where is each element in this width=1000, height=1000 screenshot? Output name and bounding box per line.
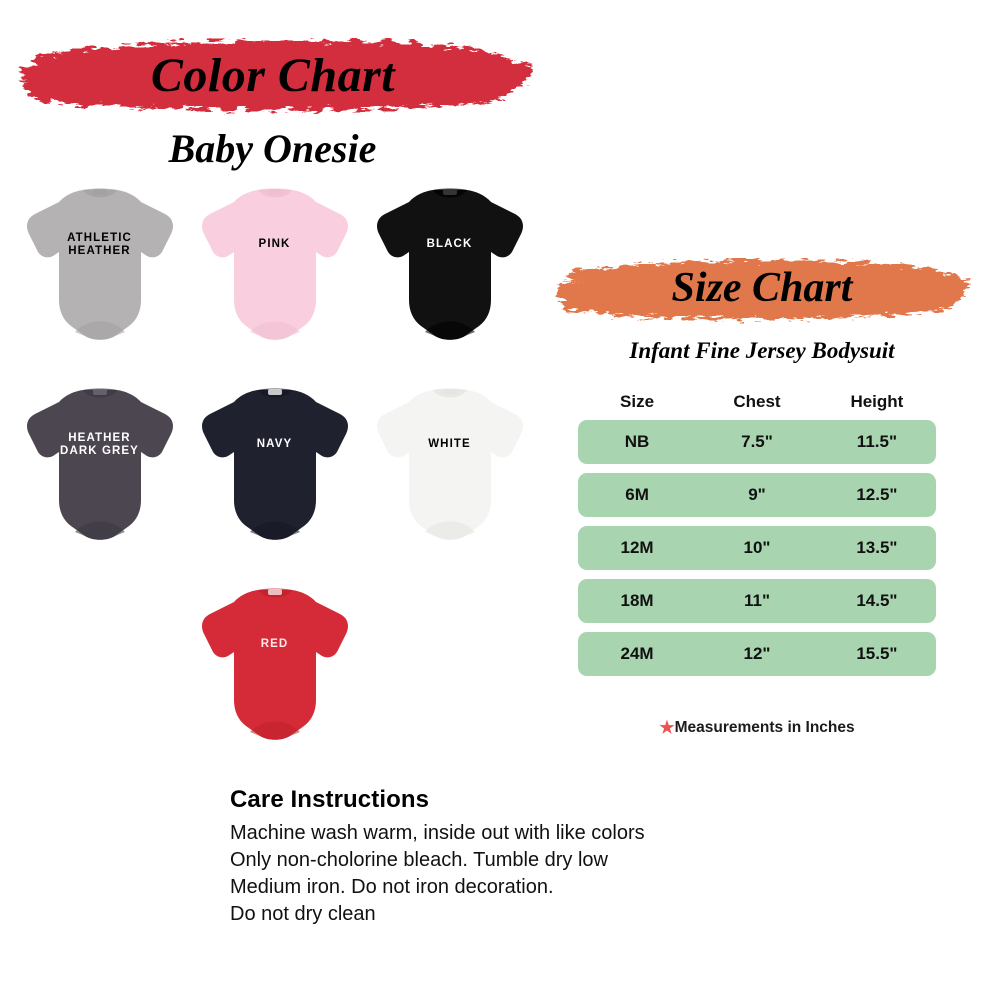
onesie-row: RED bbox=[12, 580, 537, 780]
onesie-icon bbox=[190, 180, 360, 355]
table-row: 6M 9" 12.5" bbox=[578, 473, 936, 517]
table-row: 18M 11" 14.5" bbox=[578, 579, 936, 623]
onesie-swatch-pink[interactable]: PINK bbox=[187, 180, 362, 380]
cell-height: 13.5" bbox=[818, 538, 936, 558]
cell-chest: 12" bbox=[696, 644, 818, 664]
onesie-swatch-red[interactable]: RED bbox=[187, 580, 362, 780]
color-chart-banner: Color Chart bbox=[8, 38, 538, 118]
onesie-row: ATHLETIC HEATHER PINK BLACK bbox=[12, 180, 537, 380]
measurements-note-text: Measurements in Inches bbox=[675, 719, 855, 736]
cell-height: 12.5" bbox=[818, 485, 936, 505]
onesie-row: HEATHER DARK GREY NAVY WHITE bbox=[12, 380, 537, 580]
cell-chest: 7.5" bbox=[696, 432, 818, 452]
onesie-swatch-athletic-heather[interactable]: ATHLETIC HEATHER bbox=[12, 180, 187, 380]
onesie-icon bbox=[190, 380, 360, 555]
care-instructions-block: Care Instructions Machine wash warm, ins… bbox=[230, 786, 870, 928]
measurements-note: ★Measurements in Inches bbox=[578, 718, 936, 738]
table-row: NB 7.5" 11.5" bbox=[578, 420, 936, 464]
care-instruction-line: Do not dry clean bbox=[230, 901, 870, 928]
star-icon: ★ bbox=[659, 718, 674, 737]
cell-size: 18M bbox=[578, 591, 696, 611]
size-chart-title: Size Chart bbox=[548, 264, 976, 312]
onesie-icon bbox=[365, 380, 535, 555]
onesie-icon bbox=[365, 180, 535, 355]
cell-height: 11.5" bbox=[818, 432, 936, 452]
size-chart-table: Size Chest Height NB 7.5" 11.5" 6M 9" 12… bbox=[578, 392, 936, 685]
cell-chest: 11" bbox=[696, 591, 818, 611]
onesie-icon bbox=[190, 580, 360, 755]
onesie-swatch-heather-dark-grey[interactable]: HEATHER DARK GREY bbox=[12, 380, 187, 580]
cell-size: 6M bbox=[578, 485, 696, 505]
table-row: 12M 10" 13.5" bbox=[578, 526, 936, 570]
baby-onesie-subtitle: Baby Onesie bbox=[0, 125, 545, 172]
size-chart-banner: Size Chart bbox=[548, 258, 976, 324]
care-instruction-line: Medium iron. Do not iron decoration. bbox=[230, 874, 870, 901]
column-header-size: Size bbox=[578, 392, 696, 412]
cell-height: 14.5" bbox=[818, 591, 936, 611]
column-header-chest: Chest bbox=[696, 392, 818, 412]
cell-chest: 9" bbox=[696, 485, 818, 505]
onesie-swatch-black[interactable]: BLACK bbox=[362, 180, 537, 380]
onesie-swatch-navy[interactable]: NAVY bbox=[187, 380, 362, 580]
cell-size: NB bbox=[578, 432, 696, 452]
cell-height: 15.5" bbox=[818, 644, 936, 664]
table-row: 24M 12" 15.5" bbox=[578, 632, 936, 676]
column-header-height: Height bbox=[818, 392, 936, 412]
color-chart-title: Color Chart bbox=[8, 48, 538, 103]
care-instruction-line: Only non-cholorine bleach. Tumble dry lo… bbox=[230, 847, 870, 874]
table-header-row: Size Chest Height bbox=[578, 392, 936, 420]
bodysuit-subtitle: Infant Fine Jersey Bodysuit bbox=[548, 338, 976, 364]
care-instructions-title: Care Instructions bbox=[230, 786, 870, 814]
cell-chest: 10" bbox=[696, 538, 818, 558]
cell-size: 12M bbox=[578, 538, 696, 558]
care-instruction-line: Machine wash warm, inside out with like … bbox=[230, 820, 870, 847]
onesie-icon bbox=[15, 180, 185, 355]
onesie-icon bbox=[15, 380, 185, 555]
onesie-swatch-white[interactable]: WHITE bbox=[362, 380, 537, 580]
color-swatch-grid: ATHLETIC HEATHER PINK BLACK bbox=[12, 180, 537, 780]
cell-size: 24M bbox=[578, 644, 696, 664]
